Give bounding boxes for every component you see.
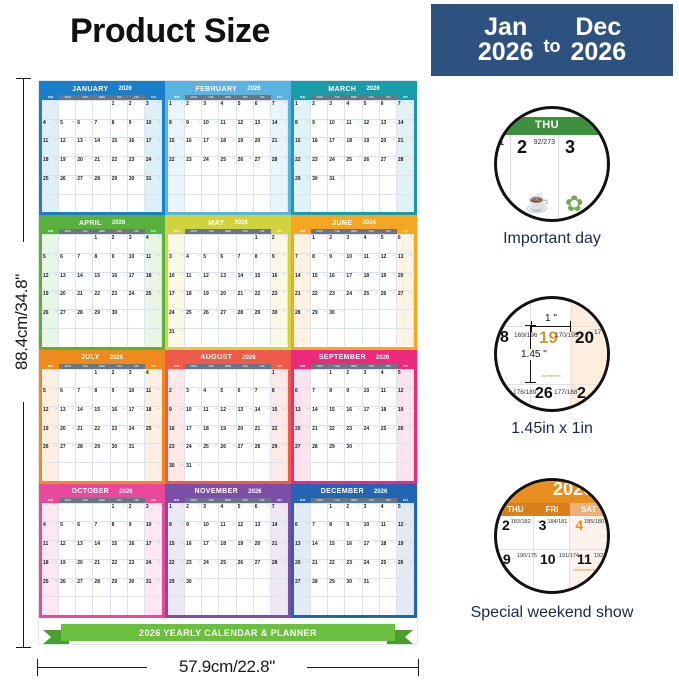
day-number: 2 (129, 504, 132, 510)
day-cell: 24— (128, 426, 145, 444)
day-fraction: — (341, 389, 343, 391)
month-row-3: JULY2026SUNMONTUEWEDTHUFRISAT1—2—3—4—5—6… (39, 350, 417, 484)
day-number: 23 (129, 157, 135, 163)
day-fraction: — (232, 445, 234, 447)
day-number: 15 (272, 407, 278, 413)
product-size-panel: Product Size 88.4cm/34.8" JANUARY2026SUN… (0, 0, 425, 686)
week-row: 1—2—3— (42, 503, 162, 522)
day-number: 6 (60, 388, 63, 394)
day-cell: 27— (397, 291, 414, 309)
day-number: 19 (60, 560, 66, 566)
day-cell: 22— (168, 157, 185, 175)
day-fraction: — (358, 389, 360, 391)
week-row: 1—2—3—4—5—6—7— (168, 100, 288, 119)
day-number: 31 (129, 444, 135, 450)
day-number: 22 (255, 291, 261, 297)
week-row: 19—20—21—22—23—24—25— (42, 290, 162, 309)
month-header: MARCH2026 (294, 83, 414, 95)
day-cell: 31— (328, 176, 345, 194)
day-fraction: — (249, 523, 251, 525)
day-cell: 18— (380, 407, 397, 425)
day-cell: 2— (311, 101, 328, 119)
date-range-banner: Jan 2026 to Dec 2026 (431, 4, 673, 76)
day-number: 6 (295, 388, 298, 394)
day-number: 7 (77, 254, 80, 260)
day-cell: 29— (168, 579, 185, 597)
week-row: 26—27—28—29—30—31— (42, 443, 162, 462)
day-fraction: — (123, 139, 125, 141)
day-cell: 1— (254, 235, 271, 253)
day-cell: 21— (271, 541, 288, 559)
week-rows: 1—2—3—4—5—6—7—8—9—10—11—12—13—14—15—16—1… (294, 100, 414, 212)
day-cell: 14— (93, 541, 110, 559)
day-cell: 13— (294, 541, 311, 559)
day-fraction: — (375, 523, 377, 525)
day-number: 29 (169, 579, 175, 585)
day-number: 17 (169, 291, 175, 297)
day-number: 22 (312, 291, 318, 297)
month-block-january: JANUARY2026SUNMONTUEWEDTHUFRISAT1—2—3—4—… (39, 81, 165, 215)
day-fraction: — (307, 389, 309, 391)
day-number: 5 (60, 120, 63, 126)
day-number: 17 (203, 138, 209, 144)
day-fraction: — (324, 561, 326, 563)
day-number: 24 (129, 426, 135, 432)
month-header: DECEMBER2026 (294, 486, 414, 498)
month-header: NOVEMBER2026 (168, 486, 288, 498)
day-cell (76, 329, 93, 347)
day-number: 6 (398, 235, 401, 241)
day-cell (42, 370, 59, 388)
day-fraction: — (375, 542, 377, 544)
week-row: 4—5—6—7—8—9—10— (42, 521, 162, 540)
day-cell: 26— (59, 176, 76, 194)
day-cell: 11— (219, 522, 236, 540)
day-number: 16 (129, 138, 135, 144)
day-fraction: — (215, 292, 217, 294)
day-cell: 17— (363, 541, 380, 559)
start-date: Jan 2026 (478, 15, 534, 65)
day-number: 5 (60, 522, 63, 528)
day-number: 19 (398, 407, 404, 413)
day-cell (311, 195, 328, 213)
day-fraction: — (358, 561, 360, 563)
day-number: 26 (60, 579, 66, 585)
day-fraction: — (358, 274, 360, 276)
day-fraction: — (215, 408, 217, 410)
day-number: 31 (186, 463, 192, 469)
day-cell (397, 463, 414, 481)
week-row: 11—12—13—14—15—16—17— (42, 137, 162, 156)
day-fraction: — (324, 311, 326, 313)
day-fraction: — (55, 255, 57, 257)
day-cell (219, 463, 236, 481)
day-number: 30 (112, 310, 118, 316)
month-block-april: APRIL2026SUNMONTUEWEDTHUFRISAT1—2—3—4—5—… (39, 215, 165, 349)
day-fraction: — (141, 158, 143, 160)
day-cell: 4— (363, 235, 380, 253)
day-cell: 23— (328, 291, 345, 309)
day-number: 16 (112, 407, 118, 413)
day-cell: 2— (185, 101, 202, 119)
day-cell: 29— (93, 444, 110, 462)
week-row: 29—30—31— (294, 175, 414, 194)
day-cell: 27— (59, 310, 76, 328)
day-fraction: — (375, 561, 377, 563)
day-number: 3 (364, 370, 367, 376)
day-fraction: — (158, 158, 160, 160)
day-cell (397, 597, 414, 615)
day-fraction: — (232, 158, 234, 160)
day-cell: 29— (311, 310, 328, 328)
day-cell: 10— (145, 120, 162, 138)
week-row: 23—24—25—26—27—28—29— (168, 443, 288, 462)
day-number: 8 (112, 120, 115, 126)
day-cell: 29— (111, 579, 128, 597)
day-fraction: — (123, 371, 125, 373)
day-fraction: — (89, 523, 91, 525)
month-grid: SUNMONTUEWEDTHUFRISAT1—2—3—4—5—6—7—8—9—1… (168, 95, 288, 212)
day-fraction: — (375, 121, 377, 123)
day-fraction: — (410, 292, 412, 294)
day-number: 16 (346, 541, 352, 547)
day-fraction: — (158, 102, 160, 104)
day-cell: 31— (145, 579, 162, 597)
month-block-december: DECEMBER2026SUNMONTUEWEDTHUFRISAT1—2—3—4… (291, 484, 417, 618)
day-cell: 30— (328, 310, 345, 328)
day-fraction: — (375, 389, 377, 391)
day-number: 30 (112, 444, 118, 450)
day-cell: 1— (168, 504, 185, 522)
day-fraction: — (198, 311, 200, 313)
day-number: 11 (220, 120, 225, 126)
week-rows: 1—2—3—4—5—6—7—8—9—10—11—12—13—14—15—16—1… (294, 503, 414, 615)
day-cell: 1— (111, 504, 128, 522)
day-cell: 16— (311, 138, 328, 156)
day-number: 9 (129, 522, 132, 528)
day-cell (76, 235, 93, 253)
day-cell: 11— (363, 254, 380, 272)
day-cell: 9— (111, 254, 128, 272)
day-number: 4 (381, 504, 384, 510)
day-fraction: — (410, 102, 412, 104)
day-cell: 23— (128, 157, 145, 175)
day-fraction: — (307, 255, 309, 257)
day-cell (128, 463, 145, 481)
day-number: 10 (146, 120, 152, 126)
month-block-may: MAY2026SUNMONTUEWEDTHUFRISAT1—2—3—4—5—6—… (165, 215, 291, 349)
day-cell (397, 444, 414, 462)
day-fraction: — (89, 445, 91, 447)
day-cell: 1— (294, 101, 311, 119)
day-number: 8 (329, 388, 332, 394)
weekday-header-fri: FRI (534, 503, 571, 516)
day-cell (145, 310, 162, 328)
day-fraction: — (158, 580, 160, 582)
day-fraction: — (410, 505, 412, 507)
day-fraction: — (158, 523, 160, 525)
day-number: 28 (398, 157, 404, 163)
day-number: 13 (381, 120, 387, 126)
day-number: 9 (112, 388, 115, 394)
day-number: 30 (329, 310, 335, 316)
day-cell (294, 370, 311, 388)
day-number: 2 (272, 235, 275, 241)
day-cell: 5— (397, 370, 414, 388)
day-fraction: — (141, 445, 143, 447)
day-number: 18 (364, 273, 370, 279)
day-number: 20 (77, 560, 83, 566)
day-number: 18 (381, 407, 387, 413)
day-number: 1 (94, 370, 97, 376)
measure-line (531, 326, 571, 327)
day-fraction: — (375, 292, 377, 294)
day-number: 26 (43, 444, 49, 450)
month-year: 2026 (362, 220, 375, 226)
day-number: 5 (238, 101, 241, 107)
day-fraction: — (341, 408, 343, 410)
month-block-november: NOVEMBER2026SUNMONTUEWEDTHUFRISAT1—2—3—4… (165, 484, 291, 618)
day-fraction: — (158, 139, 160, 141)
day-fraction: — (375, 580, 377, 582)
day-fraction: — (158, 121, 160, 123)
month-year: 2026 (374, 489, 387, 495)
day-number: 12 (381, 254, 387, 260)
day-cell: 12— (397, 388, 414, 406)
day-cell: 16— (128, 541, 145, 559)
day-cell: 25— (345, 157, 362, 175)
start-month: Jan (478, 15, 534, 40)
day-cell: 14— (93, 138, 110, 156)
day-number: 15 (94, 407, 100, 413)
day-fraction: — (158, 505, 160, 507)
day-cell (128, 597, 145, 615)
day-number: 4 (146, 235, 149, 241)
day-fraction: — (106, 408, 108, 410)
day-cell: 18— (380, 541, 397, 559)
day-cell: 26— (42, 310, 59, 328)
width-dimension-line: 57.9cm/22.8" (37, 655, 419, 679)
day-number: 13 (60, 407, 66, 413)
poster-ribbon: 2026 YEARLY CALENDAR & PLANNER (39, 618, 417, 644)
day-number: 31 (146, 176, 152, 182)
day-fraction: — (284, 427, 286, 429)
day-fraction: — (249, 274, 251, 276)
day-cell-next: 3 ✿ (559, 135, 607, 219)
day-cell: 13— (237, 407, 254, 425)
day-fraction: — (393, 561, 395, 563)
height-dimension-line: 88.4cm/34.8" (8, 78, 34, 648)
day-cell (363, 444, 380, 462)
day-fraction: — (375, 139, 377, 141)
day-cell: 28— (271, 560, 288, 578)
calendar-poster: JANUARY2026SUNMONTUEWEDTHUFRISAT1—2—3—4—… (38, 80, 418, 645)
day-fraction: — (55, 292, 57, 294)
day-fraction: — (198, 389, 200, 391)
day-number: 8 (94, 254, 97, 260)
day-fraction-row2-thu: 190/175 (517, 553, 537, 559)
detail-circle-1: THU 1 2 92/273 ☕ 3 ✿ (494, 106, 610, 222)
day-cell: 26— (397, 560, 414, 578)
day-fraction: — (106, 523, 108, 525)
day-cell (345, 329, 362, 347)
day-cell (76, 195, 93, 213)
day-number-row2-thu: 9 (503, 551, 511, 567)
day-cell (237, 329, 254, 347)
week-rows: 1—2—3—4—5—6—7—8—9—10—11—12—13—14—15—16—1… (168, 234, 288, 346)
day-cell: 15— (328, 407, 345, 425)
day-fraction: — (410, 274, 412, 276)
day-fraction: — (324, 408, 326, 410)
day-cell: 17— (168, 291, 185, 309)
day-cell: 1— (168, 101, 185, 119)
month-year: 2026 (234, 220, 247, 226)
month-year: 2026 (247, 86, 260, 92)
day-number: 2 (502, 517, 510, 533)
day-fraction: — (358, 523, 360, 525)
day-number: 12 (43, 407, 49, 413)
day-fraction: — (89, 542, 91, 544)
day-number: 19 (220, 426, 226, 432)
day-cell: 1— (271, 370, 288, 388)
day-cell: 28— (311, 579, 328, 597)
day-fraction: — (181, 427, 183, 429)
day-fraction: — (267, 121, 269, 123)
day-fraction: — (249, 311, 251, 313)
day-fraction: — (307, 177, 309, 179)
day-number: 10 (364, 522, 370, 528)
day-cell: 2— (185, 504, 202, 522)
day-cell: 6— (219, 254, 236, 272)
day-cell: 28— (76, 444, 93, 462)
day-number: 18 (43, 560, 49, 566)
day-number: 18 (220, 138, 226, 144)
day-number: 15 (169, 541, 175, 547)
day-cell (202, 329, 219, 347)
day-cell: 8— (328, 522, 345, 540)
day-cell: 10— (185, 407, 202, 425)
day-cell: 7— (271, 504, 288, 522)
day-number: 3 (565, 137, 575, 158)
day-fraction: — (307, 561, 309, 563)
day-cell (42, 597, 59, 615)
day-cell (202, 370, 219, 388)
day-number: 24 (346, 291, 352, 297)
day-cell: 5— (59, 120, 76, 138)
day-cell: 3— (145, 101, 162, 119)
day-cell: 19— (202, 291, 219, 309)
day-number: 19 (43, 426, 49, 432)
day-fraction: — (198, 464, 200, 466)
day-cell: 13— (254, 120, 271, 138)
day-number: 22 (94, 291, 100, 297)
day-number: 21 (272, 541, 278, 547)
day-cell (311, 370, 328, 388)
month-header: SEPTEMBER2026 (294, 352, 414, 364)
day-cell (185, 329, 202, 347)
day-cell: 10— (328, 120, 345, 138)
day-cell: 5— (237, 504, 254, 522)
day-fraction: — (55, 408, 57, 410)
day-cell (42, 329, 59, 347)
day-fraction: — (267, 389, 269, 391)
day-number: 27 (238, 444, 244, 450)
day-fraction: — (158, 177, 160, 179)
day-cell (380, 463, 397, 481)
height-dimension-label: 88.4cm/34.8" (10, 242, 34, 402)
month-grid: SUNMONTUEWEDTHUFRISAT1—2—3—4—5—6—7—8—9—1… (42, 498, 162, 615)
day-fraction: — (341, 139, 343, 141)
day-number-right: 20 (575, 328, 594, 348)
day-number: 29 (295, 176, 301, 182)
day-number: 15 (169, 138, 175, 144)
day-cell: 2— (328, 235, 345, 253)
week-row (42, 328, 162, 347)
day-number: 9 (186, 522, 189, 528)
day-cell: 14— (311, 541, 328, 559)
day-cell: 6— (380, 101, 397, 119)
day-fraction: — (123, 292, 125, 294)
day-fraction: — (267, 292, 269, 294)
day-number: 25 (186, 310, 192, 316)
day-cell: 26— (219, 444, 236, 462)
day-number: 13 (220, 273, 226, 279)
day-fraction: — (358, 255, 360, 257)
day-cell (237, 195, 254, 213)
day-number: 22 (94, 426, 100, 432)
day-cell-prev: 1 (497, 135, 511, 219)
day-number: 18 (186, 291, 192, 297)
day-number: 21 (238, 291, 244, 297)
day-number: 23 (272, 291, 278, 297)
day-cell: 27— (59, 444, 76, 462)
day-cell: 14— (254, 407, 271, 425)
day-cell: 4— (219, 504, 236, 522)
day-number: 5 (364, 101, 367, 107)
week-row: 1—2—3—4—5—6—7— (294, 100, 414, 119)
week-row: 7—8—9—10—11—12—13— (294, 253, 414, 272)
day-cell: 4— (345, 101, 362, 119)
day-fraction: — (181, 102, 183, 104)
day-number: 29 (312, 310, 318, 316)
day-cell: 23— (111, 426, 128, 444)
day-cell: 9— (345, 388, 362, 406)
day-number: 13 (255, 522, 261, 528)
day-fraction: — (72, 445, 74, 447)
day-number: 28 (77, 310, 83, 316)
day-number: 19 (238, 541, 244, 547)
day-fraction: — (72, 139, 74, 141)
day-number: 17 (146, 541, 152, 547)
week-row: 5—6—7—8—9—10—11— (42, 253, 162, 272)
day-cell: 26— (59, 579, 76, 597)
day-number: 15 (255, 273, 261, 279)
day-cell: 20— (380, 138, 397, 156)
day-cell (145, 463, 162, 481)
day-fraction: — (324, 292, 326, 294)
day-number: 2 (186, 101, 189, 107)
day-cell: 11— (345, 120, 362, 138)
day-fraction: — (215, 389, 217, 391)
day-cell: 3— (363, 370, 380, 388)
day-cell: 21— (254, 426, 271, 444)
day-number: 25 (43, 176, 49, 182)
day-cell: 13— (76, 138, 93, 156)
day-fraction: — (267, 408, 269, 410)
day-cell: 27— (254, 157, 271, 175)
day-cell: 8— (311, 254, 328, 272)
day-fraction: — (341, 311, 343, 313)
